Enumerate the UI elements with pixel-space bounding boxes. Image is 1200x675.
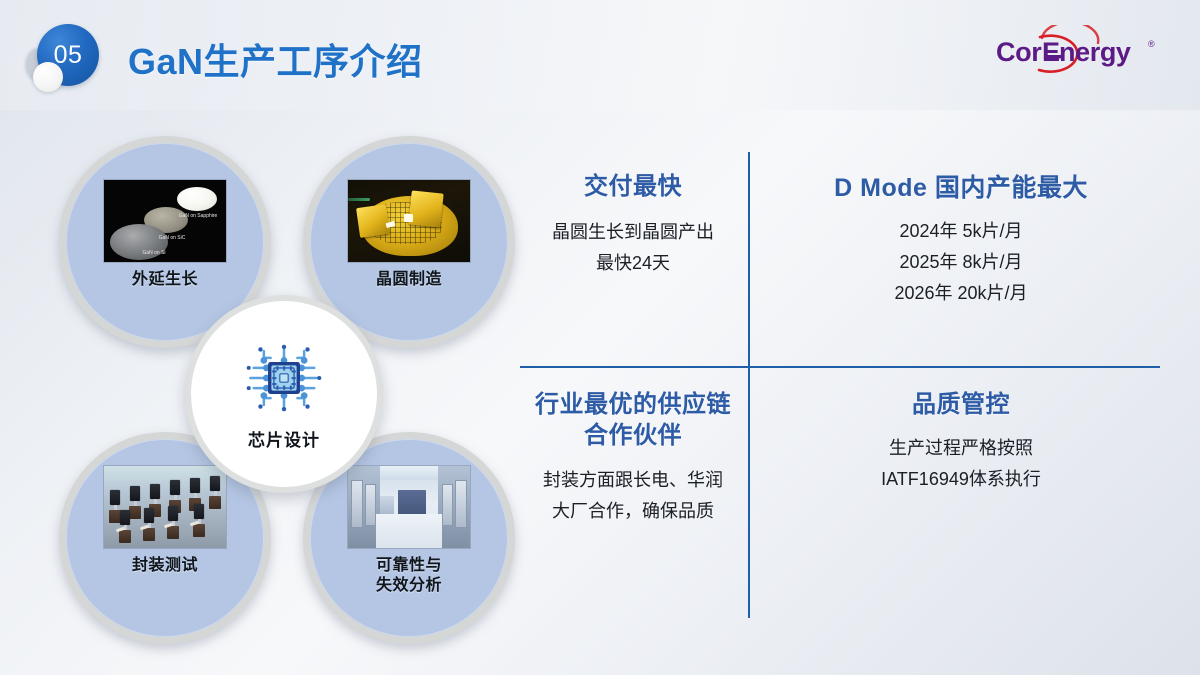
- quadrant-supply-chain: 行业最优的供应链 合作伙伴 封装方面跟长电、华润 大厂合作，确保品质: [520, 390, 746, 527]
- probe-tip-right: [404, 214, 413, 222]
- quadrant-heading-line1: 行业最优的供应链: [520, 390, 746, 421]
- quadrant-vertical-divider: [748, 152, 750, 618]
- quadrant-heading: 行业最优的供应链 合作伙伴: [520, 390, 746, 451]
- svg-text:E: E: [1042, 37, 1060, 67]
- quadrant-body-line: 2026年 20k片/月: [762, 278, 1160, 309]
- svg-text:nergy: nergy: [1059, 37, 1131, 67]
- quadrant-body-line: 最快24天: [520, 248, 746, 279]
- quadrant-body: 封装方面跟长电、华润 大厂合作，确保品质: [520, 465, 746, 527]
- quadrant-body-line: 2024年 5k片/月: [762, 216, 1160, 247]
- process-step-label: 可靠性与 失效分析: [376, 556, 442, 595]
- quadrant-body: 晶圆生长到晶圆产出 最快24天: [520, 217, 746, 279]
- page-title: GaN生产工序介绍: [128, 33, 423, 85]
- quadrant-delivery-speed: 交付最快 晶圆生长到晶圆产出 最快24天: [520, 172, 746, 279]
- device-unit: [210, 476, 220, 509]
- center-label: 芯片设计: [248, 426, 320, 451]
- probe-arm-left: [356, 204, 390, 238]
- quadrant-body-line: IATF16949体系执行: [762, 464, 1160, 495]
- lab-ceiling: [372, 466, 446, 480]
- lab-chamber: [365, 484, 376, 526]
- process-step-label-line1: 可靠性与: [376, 556, 442, 576]
- quadrant-quality-control: 品质管控 生产过程严格按照 IATF16949体系执行: [762, 390, 1160, 495]
- quadrant-dmode-capacity: D Mode 国内产能最大 2024年 5k片/月 2025年 8k片/月 20…: [762, 172, 1160, 309]
- quadrant-horizontal-divider: [520, 366, 1160, 368]
- logo-graphic: Cor E nergy ®: [980, 25, 1176, 83]
- process-step-label: 晶圆制造: [376, 270, 442, 290]
- wafer-label-sapphire: GaN on Sapphire: [177, 213, 219, 219]
- quadrant-body-line: 晶圆生长到晶圆产出: [520, 217, 746, 248]
- quadrant-body-line: 2025年 8k片/月: [762, 247, 1160, 278]
- quadrant-body: 生产过程严格按照 IATF16949体系执行: [762, 433, 1160, 495]
- quadrant-body-line: 生产过程严格按照: [762, 433, 1160, 464]
- quadrant-heading: D Mode 国内产能最大: [762, 172, 1160, 204]
- lab-chamber: [351, 480, 363, 528]
- lab-chamber: [455, 480, 467, 528]
- reliability-lab-photo: [347, 465, 471, 549]
- process-center-chip-design[interactable]: 芯片设计: [185, 295, 383, 493]
- wafer-label-si: GaN on Si: [132, 250, 176, 256]
- advantages-quadrant-panel: 交付最快 晶圆生长到晶圆产出 最快24天 D Mode 国内产能最大 2024年…: [520, 150, 1170, 620]
- device-unit: [130, 486, 140, 519]
- quadrant-heading-line2: 合作伙伴: [520, 421, 746, 452]
- quadrant-heading: 品质管控: [762, 390, 1160, 421]
- process-step-label: 外延生长: [132, 270, 198, 290]
- device-unit: [110, 490, 120, 523]
- process-circle-cluster: GaN on Sapphire GaN on SiC GaN on Si 外延生…: [55, 130, 525, 650]
- corenergy-logo: Cor E nergy ®: [980, 25, 1176, 83]
- slide-header: 05 GaN生产工序介绍 Cor E nergy ®: [0, 0, 1200, 110]
- header-accent-dot: [33, 62, 63, 92]
- process-step-label: 封装测试: [132, 556, 198, 576]
- registered-mark: ®: [1148, 39, 1155, 49]
- quadrant-heading: 交付最快: [520, 172, 746, 203]
- wafer-label-sic: GaN on SiC: [150, 235, 194, 241]
- svg-text:Cor: Cor: [996, 37, 1042, 67]
- packaged-devices-photo: [103, 465, 227, 549]
- epitaxial-wafers-photo: GaN on Sapphire GaN on SiC GaN on Si: [103, 179, 227, 263]
- lab-chamber: [442, 484, 453, 526]
- chip-design-icon: [242, 336, 326, 420]
- process-step-label-line2: 失效分析: [376, 576, 442, 596]
- wafer-sapphire: [177, 187, 217, 211]
- wafer-probe-photo: [347, 179, 471, 263]
- quadrant-body: 2024年 5k片/月 2025年 8k片/月 2026年 20k片/月: [762, 216, 1160, 309]
- fiber-cable: [348, 198, 370, 201]
- lab-floor: [376, 514, 442, 548]
- quadrant-body-line: 封装方面跟长电、华润: [520, 465, 746, 496]
- quadrant-body-line: 大厂合作，确保品质: [520, 496, 746, 527]
- probe-arm-right: [408, 190, 443, 227]
